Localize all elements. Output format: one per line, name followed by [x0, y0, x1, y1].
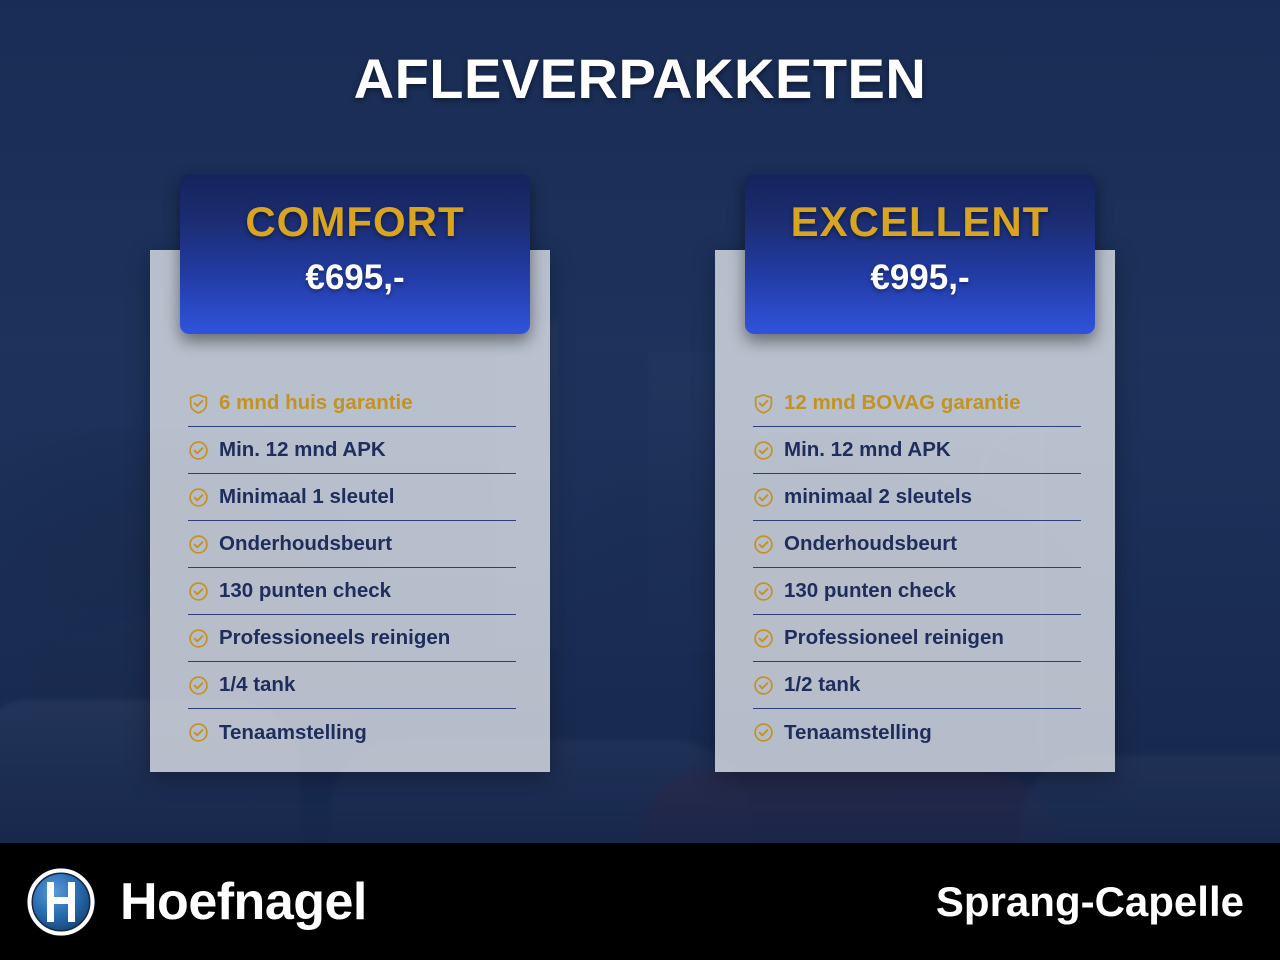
package-feature-list: 12 mnd BOVAG garantie Min. 12 mnd APK	[715, 380, 1115, 756]
feature-item: Min. 12 mnd APK	[753, 427, 1081, 474]
feature-item: Tenaamstelling	[188, 709, 516, 756]
feature-label: Onderhoudsbeurt	[784, 532, 957, 556]
circle-check-icon	[188, 487, 209, 508]
feature-item: 1/2 tank	[753, 662, 1081, 709]
shield-check-icon	[188, 393, 209, 414]
footer-location: Sprang-Capelle	[936, 878, 1244, 926]
circle-check-icon	[753, 534, 774, 555]
circle-check-icon	[753, 675, 774, 696]
feature-item: 130 punten check	[753, 568, 1081, 615]
feature-label: Tenaamstelling	[219, 721, 367, 745]
brand-name: Hoefnagel	[120, 872, 367, 932]
feature-label: 1/4 tank	[219, 673, 295, 697]
feature-label: 1/2 tank	[784, 673, 860, 697]
package-price: €995,-	[745, 258, 1095, 298]
feature-item: Professioneel reinigen	[753, 615, 1081, 662]
package-card-header: COMFORT €695,-	[180, 174, 530, 334]
feature-item: 6 mnd huis garantie	[188, 380, 516, 427]
feature-item: Min. 12 mnd APK	[188, 427, 516, 474]
circle-check-icon	[753, 487, 774, 508]
feature-label: Professioneels reinigen	[219, 626, 450, 650]
circle-check-icon	[188, 581, 209, 602]
footer-bar: Hoefnagel Sprang-Capelle	[0, 843, 1280, 960]
package-card-header: EXCELLENT €995,-	[745, 174, 1095, 334]
package-price: €695,-	[180, 258, 530, 298]
feature-label: Minimaal 1 sleutel	[219, 485, 394, 509]
circle-check-icon	[188, 440, 209, 461]
feature-item: 1/4 tank	[188, 662, 516, 709]
feature-item: Minimaal 1 sleutel	[188, 474, 516, 521]
feature-label: 130 punten check	[219, 579, 391, 603]
feature-label: 12 mnd BOVAG garantie	[784, 391, 1021, 415]
circle-check-icon	[188, 675, 209, 696]
circle-check-icon	[753, 440, 774, 461]
circle-check-icon	[188, 534, 209, 555]
slide-root: AFLEVERPAKKETEN COMFORT €695,- 6 mnd hu	[0, 0, 1280, 960]
hoefnagel-logo-icon	[24, 865, 98, 939]
feature-label: minimaal 2 sleutels	[784, 485, 972, 509]
feature-label: Tenaamstelling	[784, 721, 932, 745]
feature-item: Onderhoudsbeurt	[188, 521, 516, 568]
circle-check-icon	[188, 722, 209, 743]
feature-item: Professioneels reinigen	[188, 615, 516, 662]
package-feature-list: 6 mnd huis garantie Min. 12 mnd APK	[150, 380, 550, 756]
package-cards: COMFORT €695,- 6 mnd huis garantie	[0, 0, 1280, 843]
brand-lockup: Hoefnagel	[24, 865, 367, 939]
circle-check-icon	[188, 628, 209, 649]
feature-item: Onderhoudsbeurt	[753, 521, 1081, 568]
feature-item: minimaal 2 sleutels	[753, 474, 1081, 521]
feature-label: 6 mnd huis garantie	[219, 391, 413, 415]
circle-check-icon	[753, 628, 774, 649]
feature-item: 130 punten check	[188, 568, 516, 615]
feature-label: 130 punten check	[784, 579, 956, 603]
feature-item: Tenaamstelling	[753, 709, 1081, 756]
feature-label: Onderhoudsbeurt	[219, 532, 392, 556]
feature-label: Min. 12 mnd APK	[784, 438, 951, 462]
feature-label: Professioneel reinigen	[784, 626, 1004, 650]
circle-check-icon	[753, 722, 774, 743]
package-name: EXCELLENT	[745, 198, 1095, 246]
feature-item: 12 mnd BOVAG garantie	[753, 380, 1081, 427]
feature-label: Min. 12 mnd APK	[219, 438, 386, 462]
circle-check-icon	[753, 581, 774, 602]
package-name: COMFORT	[180, 198, 530, 246]
shield-check-icon	[753, 393, 774, 414]
